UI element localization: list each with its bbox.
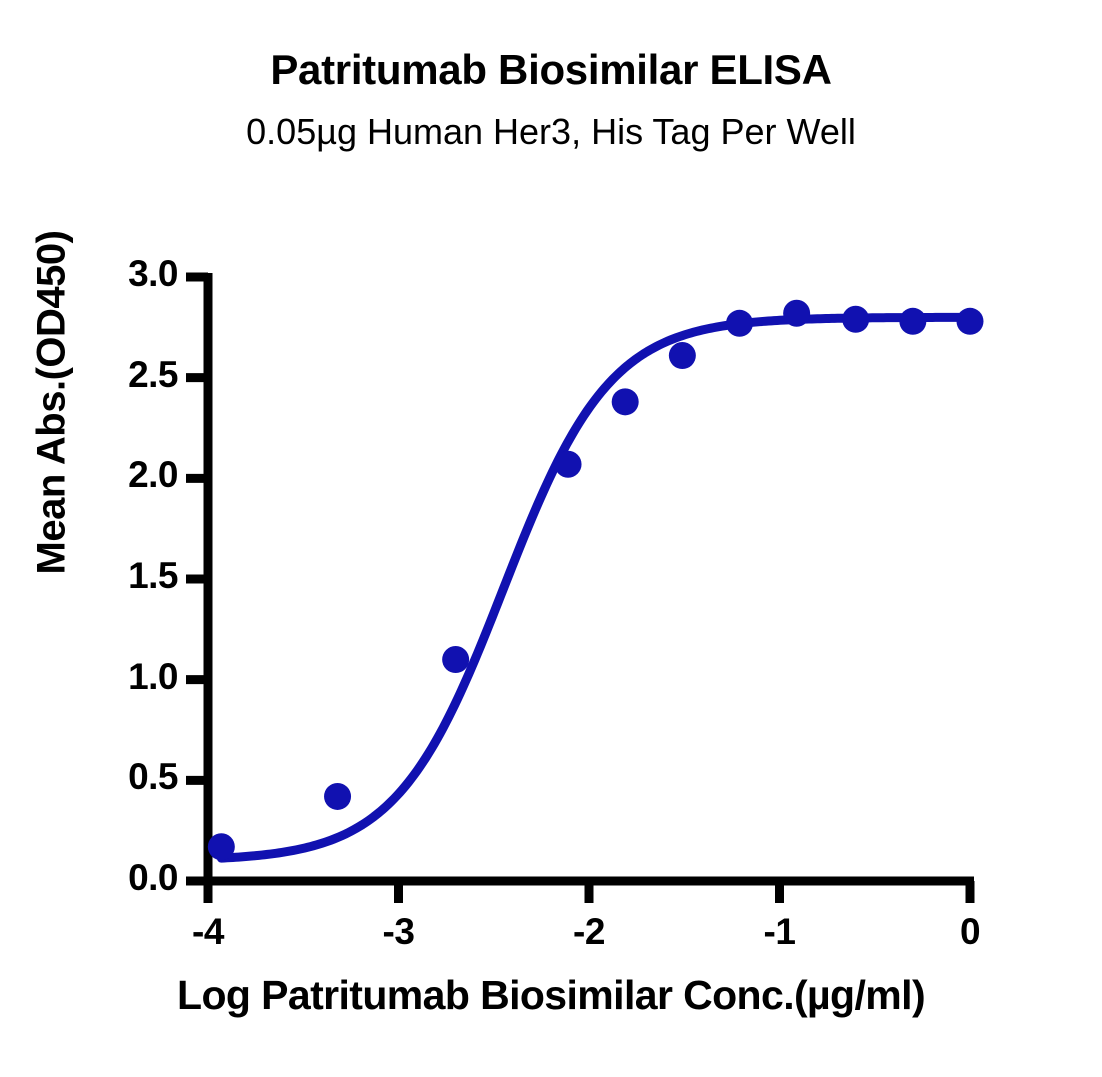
data-point-7: [783, 300, 810, 327]
x-tick-label-3: -1: [740, 911, 820, 953]
data-point-1: [324, 783, 351, 810]
data-point-4: [612, 388, 639, 415]
y-tick-label-4: 2.0: [68, 454, 178, 496]
data-point-0: [208, 833, 235, 860]
chart-title: Patritumab Biosimilar ELISA: [0, 48, 1102, 92]
fit-curve: [221, 317, 970, 858]
axes: [186, 273, 974, 903]
chart-figure: Patritumab Biosimilar ELISA 0.05µg Human…: [0, 0, 1102, 1077]
sigmoid-fit-curve: [221, 317, 970, 858]
y-tick-label-0: 0.0: [68, 857, 178, 899]
y-tick-label-6: 3.0: [68, 253, 178, 295]
y-tick-label-1: 0.5: [68, 756, 178, 798]
x-tick-label-2: -2: [549, 911, 629, 953]
data-point-3: [555, 451, 582, 478]
x-tick-label-0: -4: [168, 911, 248, 953]
chart-subtitle: 0.05µg Human Her3, His Tag Per Well: [0, 112, 1102, 152]
data-point-5: [669, 342, 696, 369]
x-axis-label: Log Patritumab Biosimilar Conc.(µg/ml): [0, 972, 1102, 1019]
data-point-8: [842, 306, 869, 333]
x-tick-label-1: -3: [359, 911, 439, 953]
data-point-6: [726, 310, 753, 337]
y-tick-label-2: 1.0: [68, 656, 178, 698]
y-tick-label-5: 2.5: [68, 354, 178, 396]
y-tick-label-3: 1.5: [68, 555, 178, 597]
data-points: [208, 300, 984, 861]
data-point-9: [899, 308, 926, 335]
x-tick-label-4: 0: [930, 911, 1010, 953]
data-point-2: [442, 646, 469, 673]
data-point-10: [957, 308, 984, 335]
